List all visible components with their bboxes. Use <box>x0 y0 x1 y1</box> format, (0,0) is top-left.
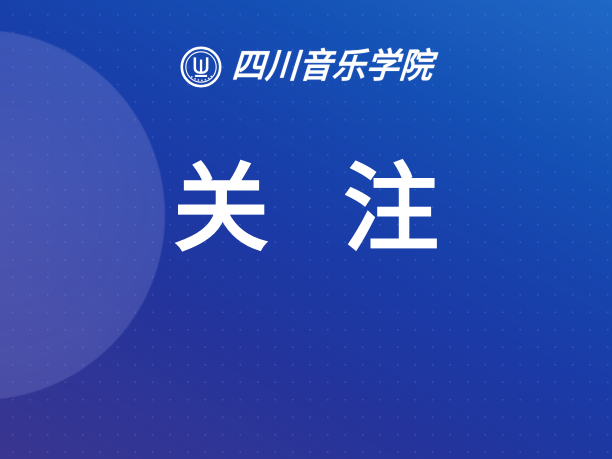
logo-lockup: 四川音乐学院 <box>0 44 612 90</box>
headline-text: 关注 <box>0 158 612 262</box>
school-seal-icon <box>180 46 222 88</box>
institution-name: 四川音乐学院 <box>230 50 433 84</box>
promo-card: 四川音乐学院 关注 <box>0 0 612 459</box>
